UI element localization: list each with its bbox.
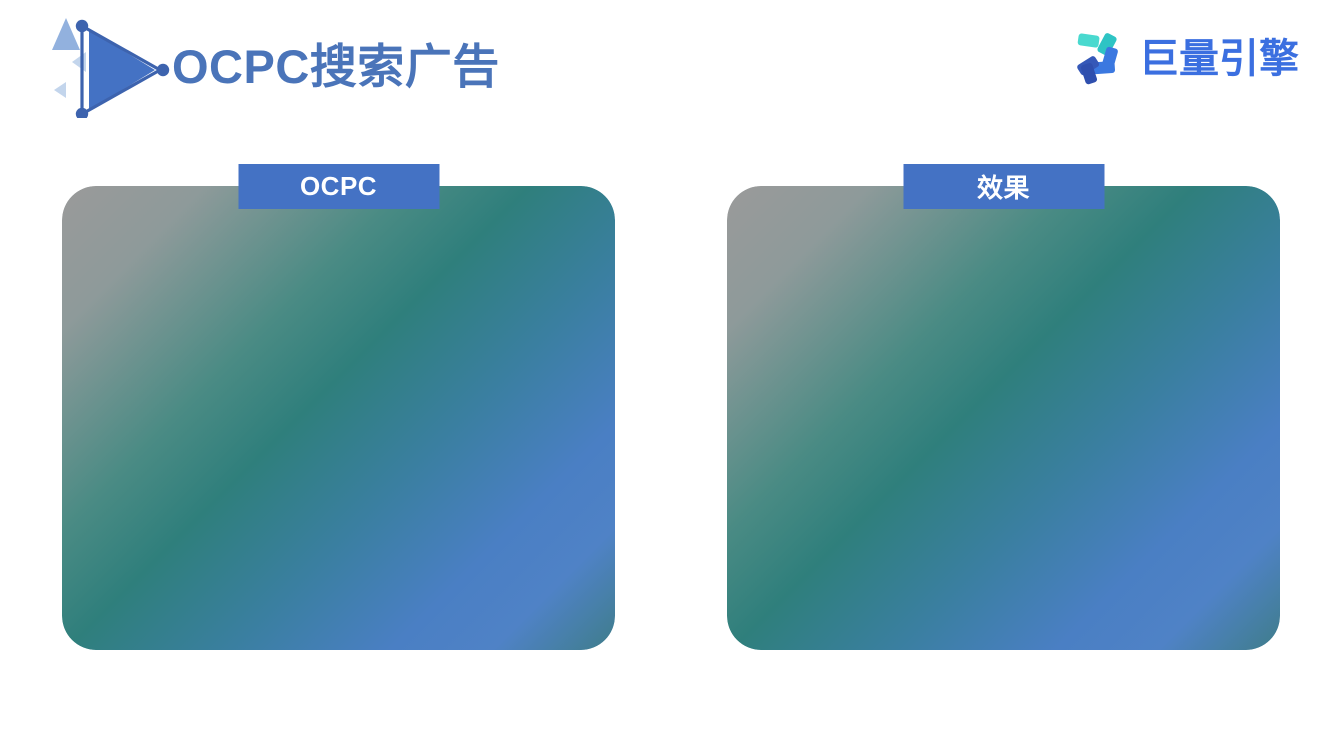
billing-principle-title: 「计费原理」 [62,429,615,460]
ocpc-definition-line-2: 优化点击成本 [62,264,615,298]
check-icon: ✓ [797,244,818,272]
ocean-engine-logo-text: 巨量引擎 [1139,39,1299,79]
cpc-contrast-line: 区别于传统的CPC出价计费 [62,517,615,548]
ocean-engine-pinwheel-icon [1067,29,1129,90]
ocpc-definition-line-1: OCPC（Optimized Cost Per Click） [62,230,615,264]
check-icon: ✓ [918,435,938,462]
card-ocpc-badge: OCPC [238,164,439,209]
billing-principle-desc-post: 的方式 [423,462,495,489]
check-icon: ✓ [904,487,924,514]
cpc-contrast-pre: 区别于传统的 [193,519,337,546]
effect-headline-1: ✓采用更精准的转化率预估机制， [727,234,1280,282]
comparison-group: CPC按出价点击计费，所有人都能搜到广告 OCPC按转化点击计费，潜在客户能搜到… [62,578,615,640]
check-icon: ✓ [891,591,911,618]
effect-benefit-list: ✓提高转化率 ✓覆盖更多人群 ✓降低转化成本 ✓转化效果更持久 [727,422,1280,630]
effect-benefit-1: 提高转化率 [954,432,1089,462]
comparison-line-cpc: CPC按出价点击计费，所有人都能搜到广告 [62,578,615,609]
list-item: ✓转化效果更持久 [727,578,1280,630]
page-title: OCPC搜索广告 [172,28,500,97]
check-icon: ✓ [904,539,924,566]
ocpc-definition-line-3: 即按点击转化付费，根据转化目标进行优化 [62,298,615,332]
play-triangle-icon [32,8,182,118]
effect-headline-2: 帮助广告主在获取更多优质流量的同时 [727,282,1280,329]
pay-per-click-pill[interactable]: 按点击付费(oCPC) [229,352,448,403]
page-header: OCPC搜索广告 巨量引擎 [0,0,1335,125]
list-item: ✓降低转化成本 [727,526,1280,578]
card-effect-content: ✓采用更精准的转化率预估机制， 帮助广告主在获取更多优质流量的同时 提高转化完成… [727,186,1280,650]
effect-benefit-2: 覆盖更多人群 [941,484,1103,514]
billing-principle-desc-pre: 竞价广告采用 [183,462,327,489]
card-effect: ✓采用更精准的转化率预估机制， 帮助广告主在获取更多优质流量的同时 提高转化完成… [727,186,1280,650]
effect-benefit-4: 转化效果更持久 [927,588,1116,618]
billing-principle-group: 「计费原理」 竞价广告采用点击计费的方式 [62,429,615,491]
card-effect-surface: ✓采用更精准的转化率预估机制， 帮助广告主在获取更多优质流量的同时 提高转化完成… [727,186,1280,650]
billing-principle-desc-strong: 点击计费 [327,462,423,489]
list-item: ✓提高转化率 [727,422,1280,474]
effect-headline-1-text: 采用更精准的转化率预估机制， [832,242,1210,272]
effect-benefit-3: 降低转化成本 [941,536,1103,566]
card-ocpc-surface: OCPC（Optimized Cost Per Click） 优化点击成本 即按… [62,186,615,650]
comparison-line-ocpc: OCPC按转化点击计费，潜在客户能搜到广告 [62,609,615,640]
cpc-contrast-strong: CPC出价计费 [337,519,484,546]
effect-headline-3: 提高转化完成率 [727,329,1280,376]
card-ocpc-content: OCPC（Optimized Cost Per Click） 优化点击成本 即按… [62,186,615,650]
card-ocpc: OCPC（Optimized Cost Per Click） 优化点击成本 即按… [62,186,615,650]
list-item: ✓覆盖更多人群 [727,474,1280,526]
billing-principle-desc: 竞价广告采用点击计费的方式 [62,460,615,491]
ocean-engine-logo: 巨量引擎 [1067,28,1299,90]
cpc-contrast-group: 区别于传统的CPC出价计费 [62,517,615,548]
card-effect-badge: 效果 [903,164,1104,209]
